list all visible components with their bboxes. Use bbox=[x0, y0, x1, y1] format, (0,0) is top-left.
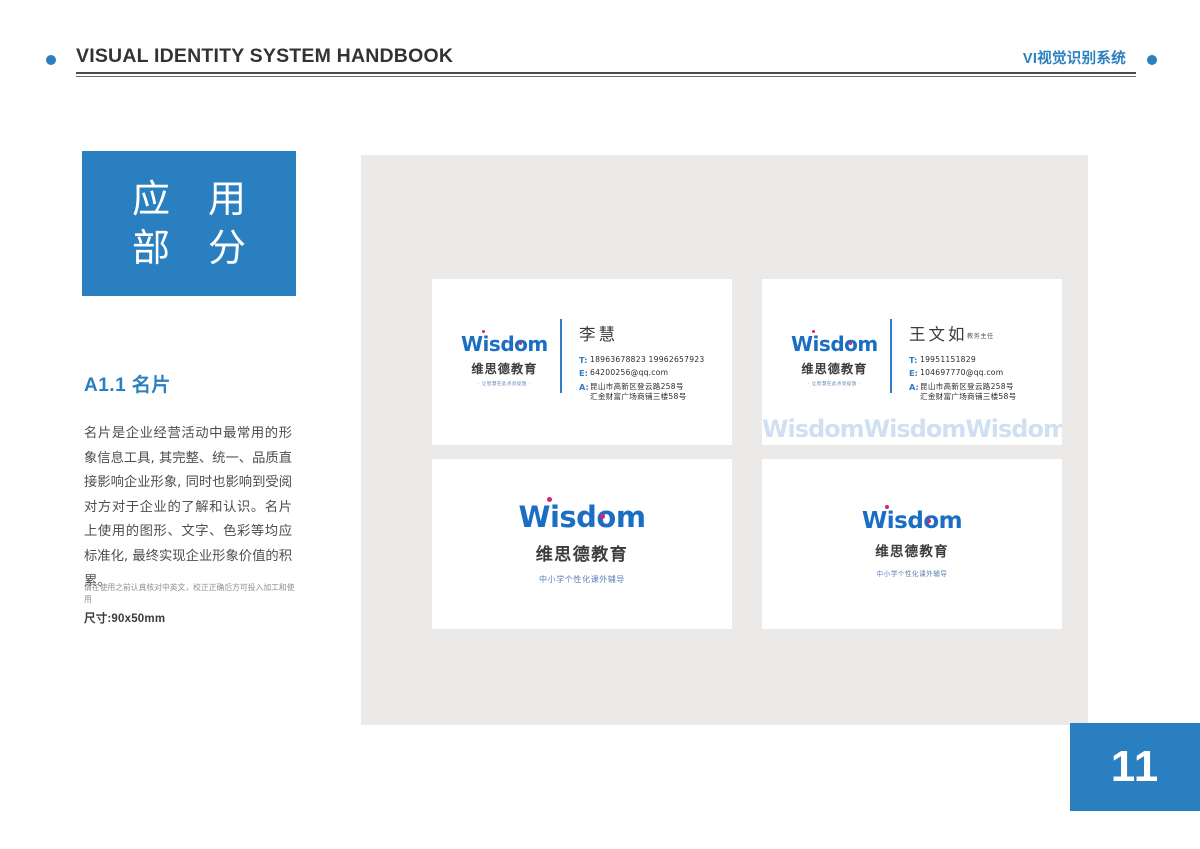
brand-cn-name: 维思德教育 bbox=[471, 359, 537, 377]
vi-handbook-page: VISUAL IDENTITY SYSTEM HANDBOOK VI视觉识别系统… bbox=[0, 0, 1200, 849]
logo-dot-2-icon bbox=[849, 342, 852, 345]
logo-dot-1-icon bbox=[812, 330, 815, 333]
card-contact-row: A: 昆山市高新区登云路258号 汇金财富广场商铺三楼58号 bbox=[579, 382, 704, 404]
contact-value: 昆山市高新区登云路258号 汇金财富广场商铺三楼58号 bbox=[590, 382, 686, 404]
header-divider bbox=[76, 72, 1136, 77]
contact-key: E: bbox=[579, 368, 590, 378]
section-note: 请在使用之前认真核对中英文，校正正确后方可投入加工和使用 bbox=[84, 582, 299, 605]
brand-wordmark-text: Wisdom bbox=[862, 510, 962, 533]
brand-logo: Wisdom 维思德教育 中小学个性化课外辅导 bbox=[862, 510, 962, 578]
contact-value: 64200256@qq.com bbox=[590, 368, 668, 379]
brand-wordmark-text: Wisdom bbox=[791, 334, 878, 354]
section-badge-line-1: 应 用 bbox=[119, 175, 259, 224]
brand-tagline-small: · 让智慧在此点亮绽放 · bbox=[478, 381, 530, 387]
card-contact-row: T: 19951151829 bbox=[909, 355, 1016, 366]
business-card-back-1: Wisdom 维思德教育 中小学个性化课外辅导 bbox=[432, 459, 732, 629]
card-divider bbox=[560, 319, 562, 393]
card-contact-row: E: 104697770@qq.com bbox=[909, 368, 1016, 379]
brand-cn-name: 维思德教育 bbox=[536, 540, 629, 565]
contact-key: A: bbox=[909, 382, 920, 392]
logo-dot-2-icon bbox=[927, 519, 931, 523]
brand-cn-name: 维思德教育 bbox=[875, 540, 949, 560]
contact-value: 104697770@qq.com bbox=[920, 368, 1003, 379]
logo-dot-2-icon bbox=[600, 514, 605, 519]
page-number-badge: 11 bbox=[1070, 723, 1200, 811]
brand-logo: Wisdom 维思德教育 · 让智慧在此点亮绽放 · bbox=[461, 334, 548, 387]
brand-tagline-full: 中小学个性化课外辅导 bbox=[877, 568, 948, 578]
contact-value: 19951151829 bbox=[920, 355, 976, 366]
card-person-role: 教务主任 bbox=[967, 331, 994, 340]
brand-logo: Wisdom 维思德教育 中小学个性化课外辅导 bbox=[518, 503, 645, 585]
card-person-name: 李慧 bbox=[579, 321, 618, 345]
business-card-front-2: Wisdom 维思德教育 · 让智慧在此点亮绽放 · 王文如 教务主任 T: 1… bbox=[762, 279, 1062, 445]
brand-wordmark-text: Wisdom bbox=[518, 503, 645, 532]
card-contact-list: T: 19951151829 E: 104697770@qq.com A: 昆山… bbox=[909, 355, 1016, 406]
header-subtitle: VI视觉识别系统 bbox=[1023, 47, 1126, 68]
card-contact-row: T: 18963678823 19962657923 bbox=[579, 355, 704, 366]
contact-key: T: bbox=[909, 355, 920, 365]
section-size-spec: 尺寸:90x50mm bbox=[84, 610, 165, 626]
contact-value: 昆山市高新区登云路258号 汇金财富广场商铺三楼58号 bbox=[920, 382, 1016, 404]
brand-wordmark-text: Wisdom bbox=[461, 334, 548, 354]
brand-tagline-small: · 让智慧在此点亮绽放 · bbox=[808, 381, 860, 387]
contact-key: E: bbox=[909, 368, 920, 378]
business-card-back-2: Wisdom 维思德教育 中小学个性化课外辅导 bbox=[762, 459, 1062, 629]
card-contact-list: T: 18963678823 19962657923 E: 64200256@q… bbox=[579, 355, 704, 406]
contact-key: A: bbox=[579, 382, 590, 392]
card-divider bbox=[890, 319, 892, 393]
section-title: A1.1 名片 bbox=[84, 370, 171, 397]
card-person-name: 王文如 bbox=[909, 321, 968, 345]
brand-logo: Wisdom 维思德教育 · 让智慧在此点亮绽放 · bbox=[791, 334, 878, 387]
brand-tagline-full: 中小学个性化课外辅导 bbox=[539, 574, 625, 585]
section-description: 名片是企业经营活动中最常用的形象信息工具, 其完整、统一、品质直接影响企业形象,… bbox=[84, 422, 292, 594]
business-card-front-1: Wisdom 维思德教育 · 让智慧在此点亮绽放 · 李慧 T: 1896367… bbox=[432, 279, 732, 445]
card-contact-row: E: 64200256@qq.com bbox=[579, 368, 704, 379]
section-badge: 应 用 部 分 bbox=[82, 151, 296, 296]
logo-dot-1-icon bbox=[547, 497, 552, 502]
brand-cn-name: 维思德教育 bbox=[801, 359, 867, 377]
page-title: VISUAL IDENTITY SYSTEM HANDBOOK bbox=[76, 45, 453, 68]
bullet-dot-left-icon bbox=[46, 55, 56, 65]
card-contact-row: A: 昆山市高新区登云路258号 汇金财富广场商铺三楼58号 bbox=[909, 382, 1016, 404]
logo-dot-2-icon bbox=[519, 342, 522, 345]
logo-dot-1-icon bbox=[482, 330, 485, 333]
section-badge-line-2: 部 分 bbox=[119, 224, 259, 273]
logo-dot-1-icon bbox=[885, 505, 889, 509]
contact-value: 18963678823 19962657923 bbox=[590, 355, 704, 366]
page-header: VISUAL IDENTITY SYSTEM HANDBOOK VI视觉识别系统 bbox=[0, 0, 1200, 95]
contact-key: T: bbox=[579, 355, 590, 365]
bullet-dot-right-icon bbox=[1147, 55, 1157, 65]
